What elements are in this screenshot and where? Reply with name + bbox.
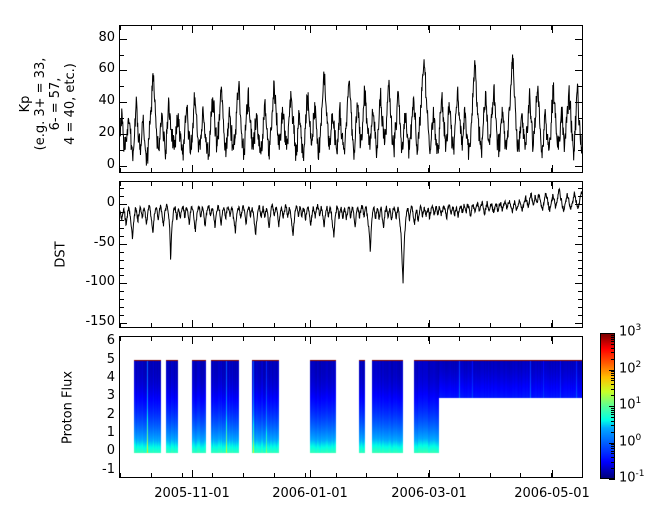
- axis-tick: [551, 26, 552, 30]
- axis-tick: [182, 323, 183, 327]
- axis-tick: [611, 380, 615, 381]
- axis-tick: [428, 182, 429, 186]
- xaxis-tick-label: 2006-05-01: [492, 486, 612, 501]
- axis-tick: [611, 375, 615, 376]
- axis-tick: [611, 451, 615, 452]
- axis-tick: [490, 168, 491, 172]
- kp-series: [120, 26, 582, 172]
- axis-tick: [310, 182, 311, 189]
- axis-tick: [611, 408, 615, 409]
- axis-tick: [310, 337, 311, 344]
- axis-tick: [274, 168, 275, 172]
- axis-tick: [429, 26, 430, 33]
- axis-tick: [120, 337, 121, 341]
- axis-tick: [609, 479, 615, 480]
- proton-flux-heatmap: [120, 337, 582, 477]
- axis-tick-label: 0: [71, 443, 115, 458]
- axis-tick: [611, 457, 615, 458]
- axis-tick: [611, 341, 615, 342]
- axis-tick-label: 2: [71, 407, 115, 422]
- axis-tick: [397, 26, 398, 30]
- dst-axis-label: DST: [54, 215, 69, 295]
- axis-tick: [305, 323, 306, 327]
- axis-tick: [120, 477, 124, 478]
- axis-tick: [611, 412, 615, 413]
- heatmap-canvas: [120, 337, 582, 477]
- axis-tick: [366, 473, 367, 477]
- axis-tick: [611, 337, 615, 338]
- axis-tick: [428, 337, 429, 341]
- axis-tick: [429, 320, 430, 327]
- axis-tick: [182, 337, 183, 341]
- axis-tick: [520, 182, 521, 186]
- axis-tick: [611, 359, 615, 360]
- axis-tick: [611, 448, 615, 449]
- dst-series: [120, 182, 582, 327]
- axis-tick-label: 3: [71, 388, 115, 403]
- axis-tick: [212, 26, 213, 30]
- axis-tick: [552, 26, 553, 33]
- axis-tick: [611, 352, 615, 353]
- axis-tick: [305, 26, 306, 30]
- axis-tick: [611, 389, 615, 390]
- axis-tick: [151, 26, 152, 30]
- axis-tick: [274, 182, 275, 186]
- axis-tick: [490, 182, 491, 186]
- axis-tick-label: -1: [71, 462, 115, 477]
- xaxis-tick-label: 2006-01-01: [250, 486, 370, 501]
- axis-tick: [552, 182, 553, 189]
- xaxis-tick-label: 2006-03-01: [369, 486, 489, 501]
- axis-tick: [310, 470, 311, 477]
- axis-tick-label: 40: [71, 93, 115, 108]
- axis-tick: [611, 335, 615, 336]
- axis-tick: [611, 468, 615, 469]
- axis-tick: [611, 395, 615, 396]
- axis-tick: [212, 182, 213, 186]
- axis-tick: [151, 473, 152, 477]
- axis-tick: [459, 168, 460, 172]
- axis-tick: [120, 323, 121, 327]
- axis-tick: [192, 26, 193, 33]
- axis-tick: [611, 444, 615, 445]
- axis-tick: [551, 337, 552, 341]
- axis-tick: [611, 339, 615, 340]
- axis-tick: [120, 168, 121, 172]
- kp-axis-label-l2: (e.g. 3+ = 33,: [33, 34, 48, 174]
- axis-tick: [120, 182, 121, 186]
- axis-tick: [336, 182, 337, 186]
- axis-tick: [582, 168, 583, 172]
- axis-tick: [243, 337, 244, 341]
- axis-tick: [212, 323, 213, 327]
- axis-tick: [582, 337, 583, 341]
- axis-tick-label: -100: [71, 274, 115, 289]
- axis-tick-label: 6: [71, 333, 115, 348]
- xaxis-tick-label: 2005-11-01: [132, 486, 252, 501]
- axis-tick: [459, 26, 460, 30]
- axis-tick: [192, 320, 193, 327]
- kp-axis-label: Kp (e.g. 3+ = 33, 6- = 57, 4 = 40, etc.)…: [18, 34, 78, 174]
- axis-tick: [490, 473, 491, 477]
- axis-tick: [429, 182, 430, 189]
- axis-tick: [459, 473, 460, 477]
- axis-tick: [428, 26, 429, 30]
- axis-tick-label: -150: [71, 314, 115, 329]
- colorbar-tick-label: 10-1: [619, 469, 645, 485]
- axis-tick: [336, 26, 337, 30]
- axis-tick: [611, 425, 615, 426]
- axis-tick: [182, 473, 183, 477]
- axis-tick: [551, 323, 552, 327]
- axis-tick: [397, 182, 398, 186]
- axis-tick: [582, 26, 583, 30]
- axis-tick: [151, 323, 152, 327]
- axis-tick: [429, 337, 430, 344]
- axis-tick: [611, 446, 615, 447]
- axis-tick-label: 20: [71, 125, 115, 140]
- axis-tick: [397, 337, 398, 341]
- colorbar-tick-label: 103: [619, 323, 641, 339]
- axis-tick: [611, 348, 615, 349]
- axis-tick: [520, 473, 521, 477]
- axis-tick: [151, 337, 152, 341]
- axis-tick: [274, 473, 275, 477]
- axis-tick: [243, 26, 244, 30]
- axis-tick: [182, 168, 183, 172]
- axis-tick: [182, 182, 183, 186]
- axis-tick: [120, 26, 121, 30]
- axis-tick: [611, 453, 615, 454]
- axis-tick: [305, 473, 306, 477]
- axis-tick: [520, 323, 521, 327]
- axis-tick: [151, 168, 152, 172]
- axis-tick: [120, 473, 121, 477]
- axis-tick-label: 0: [71, 157, 115, 172]
- axis-tick: [611, 421, 615, 422]
- axis-tick: [490, 26, 491, 30]
- axis-tick: [611, 417, 615, 418]
- colorbar-tick-label: 101: [619, 396, 641, 412]
- axis-tick: [552, 470, 553, 477]
- kp-axis-label-l3: 6- = 57,: [48, 34, 63, 174]
- axis-tick: [192, 470, 193, 477]
- axis-tick-label: -50: [71, 235, 115, 250]
- axis-tick: [582, 323, 583, 327]
- axis-tick: [274, 323, 275, 327]
- series-path: [120, 55, 582, 166]
- axis-tick-label: 60: [71, 61, 115, 76]
- axis-tick: [552, 337, 553, 344]
- axis-tick: [366, 182, 367, 186]
- axis-tick: [611, 373, 615, 374]
- colorbar-tick-label: 102: [619, 360, 641, 376]
- axis-tick: [192, 182, 193, 189]
- colorbar-tick-label: 100: [619, 433, 641, 449]
- axis-tick-label: 0: [71, 195, 115, 210]
- axis-tick-label: 80: [71, 30, 115, 45]
- axis-tick: [490, 323, 491, 327]
- axis-tick: [243, 473, 244, 477]
- axis-tick: [336, 337, 337, 341]
- axis-tick: [459, 337, 460, 341]
- axis-tick: [336, 168, 337, 172]
- axis-tick: [366, 26, 367, 30]
- axis-tick-label: 4: [71, 370, 115, 385]
- axis-tick: [428, 473, 429, 477]
- axis-tick: [611, 384, 615, 385]
- axis-tick: [582, 182, 583, 186]
- axis-tick-label: 1: [71, 425, 115, 440]
- axis-tick: [243, 182, 244, 186]
- series-path: [120, 189, 582, 283]
- figure-canvas: Kp (e.g. 3+ = 33, 6- = 57, 4 = 40, etc.)…: [0, 0, 665, 523]
- axis-tick: [459, 182, 460, 186]
- axis-tick: [490, 337, 491, 341]
- axis-tick: [552, 320, 553, 327]
- axis-tick: [336, 473, 337, 477]
- axis-tick: [428, 323, 429, 327]
- axis-tick: [305, 182, 306, 186]
- axis-tick: [397, 473, 398, 477]
- axis-tick: [182, 26, 183, 30]
- axis-tick: [611, 462, 615, 463]
- axis-tick: [274, 337, 275, 341]
- axis-tick: [243, 323, 244, 327]
- axis-tick: [429, 165, 430, 172]
- axis-tick: [611, 378, 615, 379]
- axis-tick: [212, 337, 213, 341]
- axis-tick: [274, 26, 275, 30]
- axis-tick: [336, 323, 337, 327]
- axis-tick: [611, 344, 615, 345]
- axis-tick: [551, 168, 552, 172]
- axis-tick: [151, 182, 152, 186]
- axis-tick: [305, 337, 306, 341]
- axis-tick: [578, 477, 582, 478]
- axis-tick: [429, 470, 430, 477]
- axis-tick: [611, 410, 615, 411]
- axis-tick: [212, 168, 213, 172]
- axis-tick-label: 5: [71, 352, 115, 367]
- axis-tick: [366, 168, 367, 172]
- axis-tick: [397, 168, 398, 172]
- axis-tick: [459, 323, 460, 327]
- axis-tick: [611, 432, 615, 433]
- axis-tick: [552, 165, 553, 172]
- axis-tick: [611, 414, 615, 415]
- axis-tick: [305, 168, 306, 172]
- axis-tick: [520, 168, 521, 172]
- axis-tick: [551, 182, 552, 186]
- axis-tick: [366, 323, 367, 327]
- axis-tick: [611, 371, 615, 372]
- axis-tick: [212, 473, 213, 477]
- axis-tick: [520, 337, 521, 341]
- axis-tick: [366, 337, 367, 341]
- axis-tick: [310, 165, 311, 172]
- axis-tick: [582, 473, 583, 477]
- axis-tick: [310, 320, 311, 327]
- axis-tick: [243, 168, 244, 172]
- axis-tick: [520, 26, 521, 30]
- axis-tick: [192, 165, 193, 172]
- axis-tick: [397, 323, 398, 327]
- axis-tick: [310, 26, 311, 33]
- axis-tick: [428, 168, 429, 172]
- axis-tick: [551, 473, 552, 477]
- axis-tick: [192, 337, 193, 344]
- kp-axis-label-l1: Kp: [18, 34, 33, 174]
